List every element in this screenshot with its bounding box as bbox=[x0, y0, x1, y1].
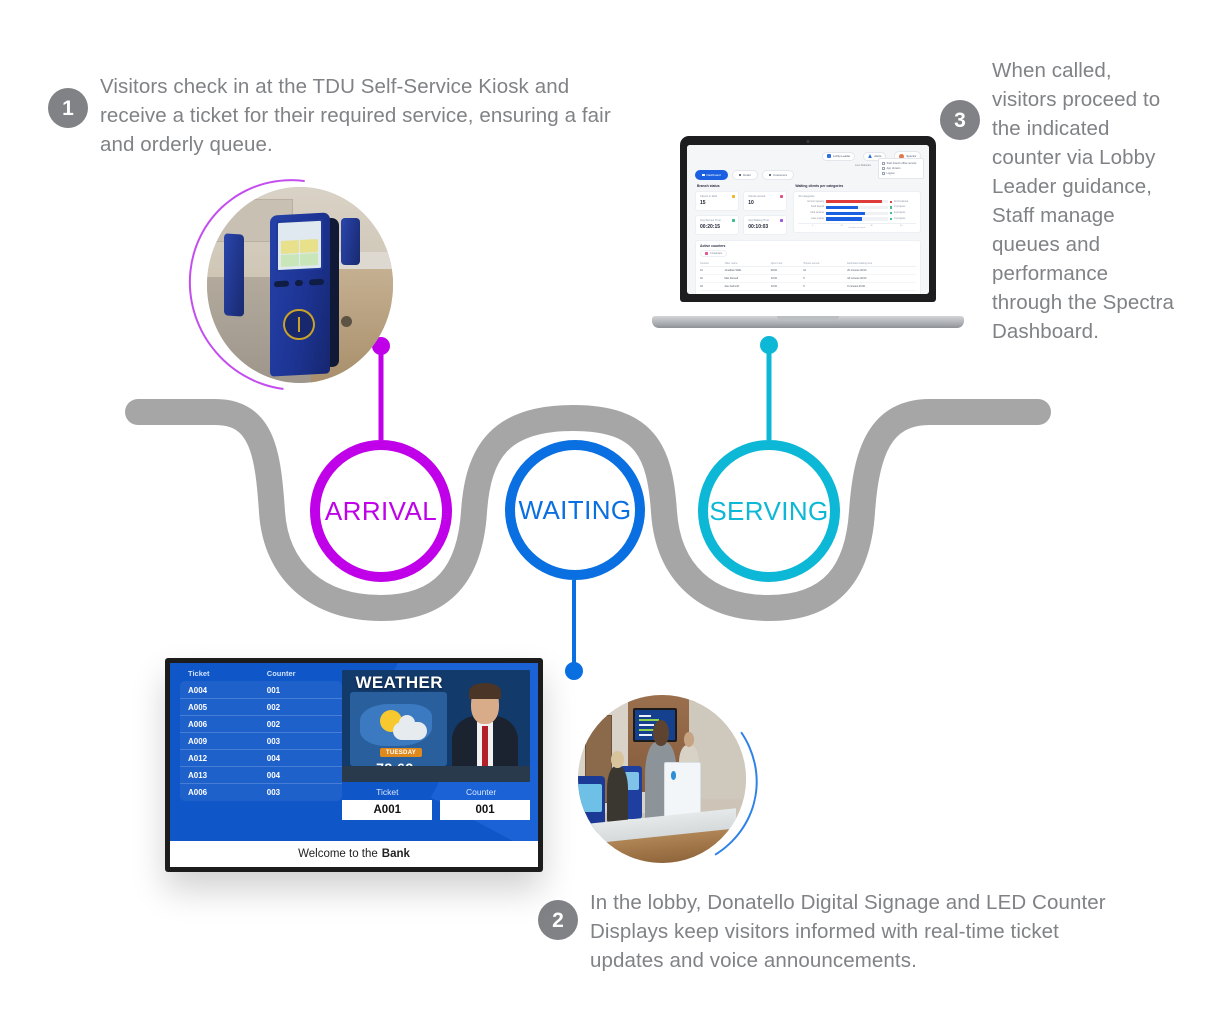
signage-queue-header: Ticket Counter bbox=[180, 669, 342, 681]
kpi-card: Clients in Wait 15 bbox=[695, 191, 739, 211]
bar-row: Account opening All Completed bbox=[798, 200, 916, 203]
kpi-label: Clients served bbox=[748, 195, 782, 198]
legend-label: All Completed bbox=[894, 201, 908, 203]
user-dropdown-menu[interactable]: Start branch office service App Version … bbox=[878, 158, 924, 179]
table-row: 03 Alex Ashcroft 10:00 5 9 minutes 00:00 bbox=[700, 283, 916, 291]
tab-dashboard[interactable]: Dashboard bbox=[695, 170, 728, 180]
kpi-card: Avg Waiting Time 00:10:03 bbox=[743, 215, 787, 235]
kpi-label: Avg Waiting Time bbox=[748, 219, 782, 222]
kpi-label: Avg Service Time bbox=[700, 219, 734, 222]
queue-row: A006 002 bbox=[180, 716, 342, 733]
signage-footer: Welcome to the Bank bbox=[170, 841, 538, 867]
kpi-value: 00:10:03 bbox=[748, 224, 782, 230]
laptop-screen: Lobby Leader Alerts Spectra bbox=[687, 145, 929, 294]
connector-waiting bbox=[565, 580, 583, 680]
lobby-photo bbox=[578, 695, 746, 863]
menu-item-label: App Version bbox=[887, 167, 901, 170]
menu-bullet-icon bbox=[882, 172, 885, 175]
legend-dot-icon bbox=[890, 212, 892, 214]
queue-ticket: A013 bbox=[188, 771, 267, 780]
now-serving-counter-value: 001 bbox=[440, 800, 530, 820]
kpi-value: 00:20:15 bbox=[700, 224, 734, 230]
menu-bullet-icon bbox=[882, 167, 885, 170]
bar-legend: In progress bbox=[890, 206, 916, 208]
legend-label: In progress bbox=[894, 212, 906, 214]
legend-label: In progress bbox=[894, 218, 906, 220]
chart-panel-label: All categories bbox=[798, 195, 916, 198]
signage-media-panel: WEATHER TUESDAY 78 62 Ticket bbox=[342, 670, 530, 820]
signage-footer-text: Welcome to the bbox=[298, 848, 378, 860]
queue-row: A005 002 bbox=[180, 699, 342, 716]
grid-icon bbox=[702, 174, 705, 177]
step-3-text: When called, visitors proceed to the ind… bbox=[992, 56, 1182, 346]
bar-fill bbox=[826, 217, 862, 220]
kpi-tag-icon bbox=[732, 219, 735, 222]
bar-fill bbox=[826, 206, 858, 209]
connector-dot-serving bbox=[760, 336, 778, 354]
step-1-badge: 1 bbox=[48, 88, 88, 128]
step-3-badge: 3 bbox=[940, 100, 980, 140]
queue-counter: 001 bbox=[267, 686, 280, 695]
bar-category-label: Account opening bbox=[798, 201, 824, 203]
queue-ticket: A012 bbox=[188, 754, 267, 763]
stage-label-waiting: WAITING bbox=[518, 495, 631, 526]
signage-queue-panel: Ticket Counter A004 001 A005 002 A006 00… bbox=[180, 669, 342, 801]
active-counters-table: Counter Teller name Open hour Tickets se… bbox=[700, 260, 916, 291]
stage-circle-serving[interactable]: SERVING bbox=[698, 440, 840, 582]
infographic-canvas: ARRIVAL WAITING SERVING 1 Visitors check… bbox=[0, 0, 1206, 1018]
kpi-value: 10 bbox=[748, 200, 782, 206]
bell-icon bbox=[868, 154, 872, 158]
kpi-card: Clients served 10 bbox=[743, 191, 787, 211]
branch-status-title: Branch status bbox=[697, 184, 785, 188]
kpi-tag-icon bbox=[780, 219, 783, 222]
tab-detail[interactable]: Detail bbox=[732, 170, 758, 180]
queue-counter: 004 bbox=[267, 754, 280, 763]
active-counters-panel: Active counters 3 Counters Counter Telle… bbox=[695, 240, 921, 294]
stage-circle-waiting[interactable]: WAITING bbox=[505, 440, 645, 580]
laptop-lid: Lobby Leader Alerts Spectra bbox=[680, 136, 936, 302]
now-serving-ticket-label: Ticket bbox=[376, 787, 398, 797]
tab-label: Dashboard bbox=[707, 173, 721, 177]
step-2-badge: 2 bbox=[538, 900, 578, 940]
active-counters-title: Active counters bbox=[700, 244, 916, 248]
queue-row: A006 003 bbox=[180, 784, 342, 800]
queue-col-counter: Counter bbox=[267, 669, 296, 678]
stage-label-arrival: ARRIVAL bbox=[325, 496, 437, 527]
step-3-block: 3 When called, visitors proceed to the i… bbox=[940, 56, 1190, 346]
step-2-block: 2 In the lobby, Donatello Digital Signag… bbox=[538, 888, 1138, 975]
counter-chip-icon bbox=[705, 252, 708, 255]
queue-ticket: A005 bbox=[188, 703, 267, 712]
bar-fill bbox=[826, 200, 882, 203]
bar-category-label: Cash deposit bbox=[798, 206, 824, 208]
bar-fill bbox=[826, 212, 864, 215]
queue-counter: 002 bbox=[267, 720, 280, 729]
kpi-tag-icon bbox=[780, 195, 783, 198]
signage-footer-brand: Bank bbox=[382, 848, 410, 860]
legend-label: In progress bbox=[894, 206, 906, 208]
laptop-notch bbox=[777, 316, 839, 321]
queue-ticket: A009 bbox=[188, 737, 267, 746]
kpi-tag-icon bbox=[732, 195, 735, 198]
queue-row: A012 004 bbox=[180, 750, 342, 767]
queue-row: A013 004 bbox=[180, 767, 342, 784]
stage-label-serving: SERVING bbox=[709, 496, 828, 527]
queue-row: A009 003 bbox=[180, 733, 342, 750]
bar-row: Card services In progress bbox=[798, 212, 916, 215]
app-icon bbox=[827, 154, 831, 158]
spectra-dashboard: Lobby Leader Alerts Spectra bbox=[687, 145, 929, 294]
kpi-label: Clients in Wait bbox=[700, 195, 734, 198]
queue-row: A004 001 bbox=[180, 682, 342, 699]
bar-category-label: Loan enquiry bbox=[798, 218, 824, 220]
counters-chip[interactable]: 3 Counters bbox=[700, 250, 727, 257]
kpi-value: 15 bbox=[700, 200, 734, 206]
queue-ticket: A006 bbox=[188, 720, 267, 729]
list-icon bbox=[739, 174, 742, 177]
legend-dot-icon bbox=[890, 206, 892, 208]
menu-item-logout[interactable]: Logout bbox=[882, 171, 920, 176]
tab-label: Customers bbox=[773, 173, 787, 177]
table-row: 02 Max Russell 10:00 5 18 minutes 00:00 bbox=[700, 275, 916, 283]
table-row: 01 Jonathan Willis 09:00 10 20 minutes 0… bbox=[700, 267, 916, 275]
bar-row: Cash deposit In progress bbox=[798, 206, 916, 209]
now-serving-ticket-value: A001 bbox=[342, 800, 432, 820]
people-icon bbox=[769, 174, 772, 177]
now-serving-counter-label: Counter bbox=[466, 787, 496, 797]
menu-bullet-icon bbox=[882, 162, 885, 165]
legend-dot-icon bbox=[890, 218, 892, 220]
queue-counter: 003 bbox=[267, 737, 280, 746]
queue-col-ticket: Ticket bbox=[188, 669, 267, 678]
tab-customers[interactable]: Customers bbox=[762, 170, 794, 180]
news-anchor bbox=[444, 677, 527, 780]
stage-circle-arrival[interactable]: ARRIVAL bbox=[310, 440, 452, 582]
menu-item-label: Start branch office service bbox=[887, 162, 917, 165]
cloud-icon bbox=[393, 722, 427, 740]
digital-signage-display: Ticket Counter A004 001 A005 002 A006 00… bbox=[165, 658, 543, 872]
weather-day: TUESDAY bbox=[380, 748, 422, 757]
queue-ticket: A004 bbox=[188, 686, 267, 695]
connector-serving bbox=[760, 336, 778, 440]
counters-chip-label: 3 Counters bbox=[710, 252, 722, 255]
chart-x-axis-title: Number of clients bbox=[798, 227, 916, 229]
connector-dot-waiting bbox=[565, 662, 583, 680]
chart-title: Waiting clients per categories bbox=[795, 184, 919, 188]
bar-category-label: Card services bbox=[798, 212, 824, 214]
step-2-text: In the lobby, Donatello Digital Signage … bbox=[590, 888, 1110, 975]
app-pill-label: Lobby Leader bbox=[833, 154, 850, 158]
bar-chart: Account opening All Completed Cash bbox=[798, 200, 916, 229]
weather-title: WEATHER bbox=[355, 673, 442, 693]
webcam-icon bbox=[807, 140, 810, 143]
queue-counter: 004 bbox=[267, 771, 280, 780]
queue-counter: 003 bbox=[267, 788, 280, 797]
bar-legend: All Completed bbox=[890, 201, 916, 203]
bar-legend: In progress bbox=[890, 212, 916, 214]
queue-counter: 002 bbox=[267, 703, 280, 712]
laptop-mockup: Lobby Leader Alerts Spectra bbox=[652, 136, 964, 328]
kpi-grid: Clients in Wait 15 Clients served 10 bbox=[695, 191, 787, 235]
waiting-clients-chart: All categories Account opening All Compl… bbox=[793, 191, 921, 233]
tab-label: Detail bbox=[743, 173, 750, 177]
bar-legend: In progress bbox=[890, 218, 916, 220]
bar-row: Loan enquiry In progress bbox=[798, 217, 916, 220]
kiosk-photo bbox=[207, 187, 393, 383]
step-1-text: Visitors check in at the TDU Self-Servic… bbox=[100, 72, 640, 159]
kpi-card: Avg Service Time 00:20:15 bbox=[695, 215, 739, 235]
queue-ticket: A006 bbox=[188, 788, 267, 797]
menu-item-label: Logout bbox=[887, 172, 895, 175]
app-switcher-pill[interactable]: Lobby Leader bbox=[822, 152, 855, 161]
legend-dot-icon bbox=[890, 201, 892, 203]
weather-broadcast: WEATHER TUESDAY 78 62 bbox=[342, 670, 530, 782]
step-1-block: 1 Visitors check in at the TDU Self-Serv… bbox=[48, 72, 648, 159]
